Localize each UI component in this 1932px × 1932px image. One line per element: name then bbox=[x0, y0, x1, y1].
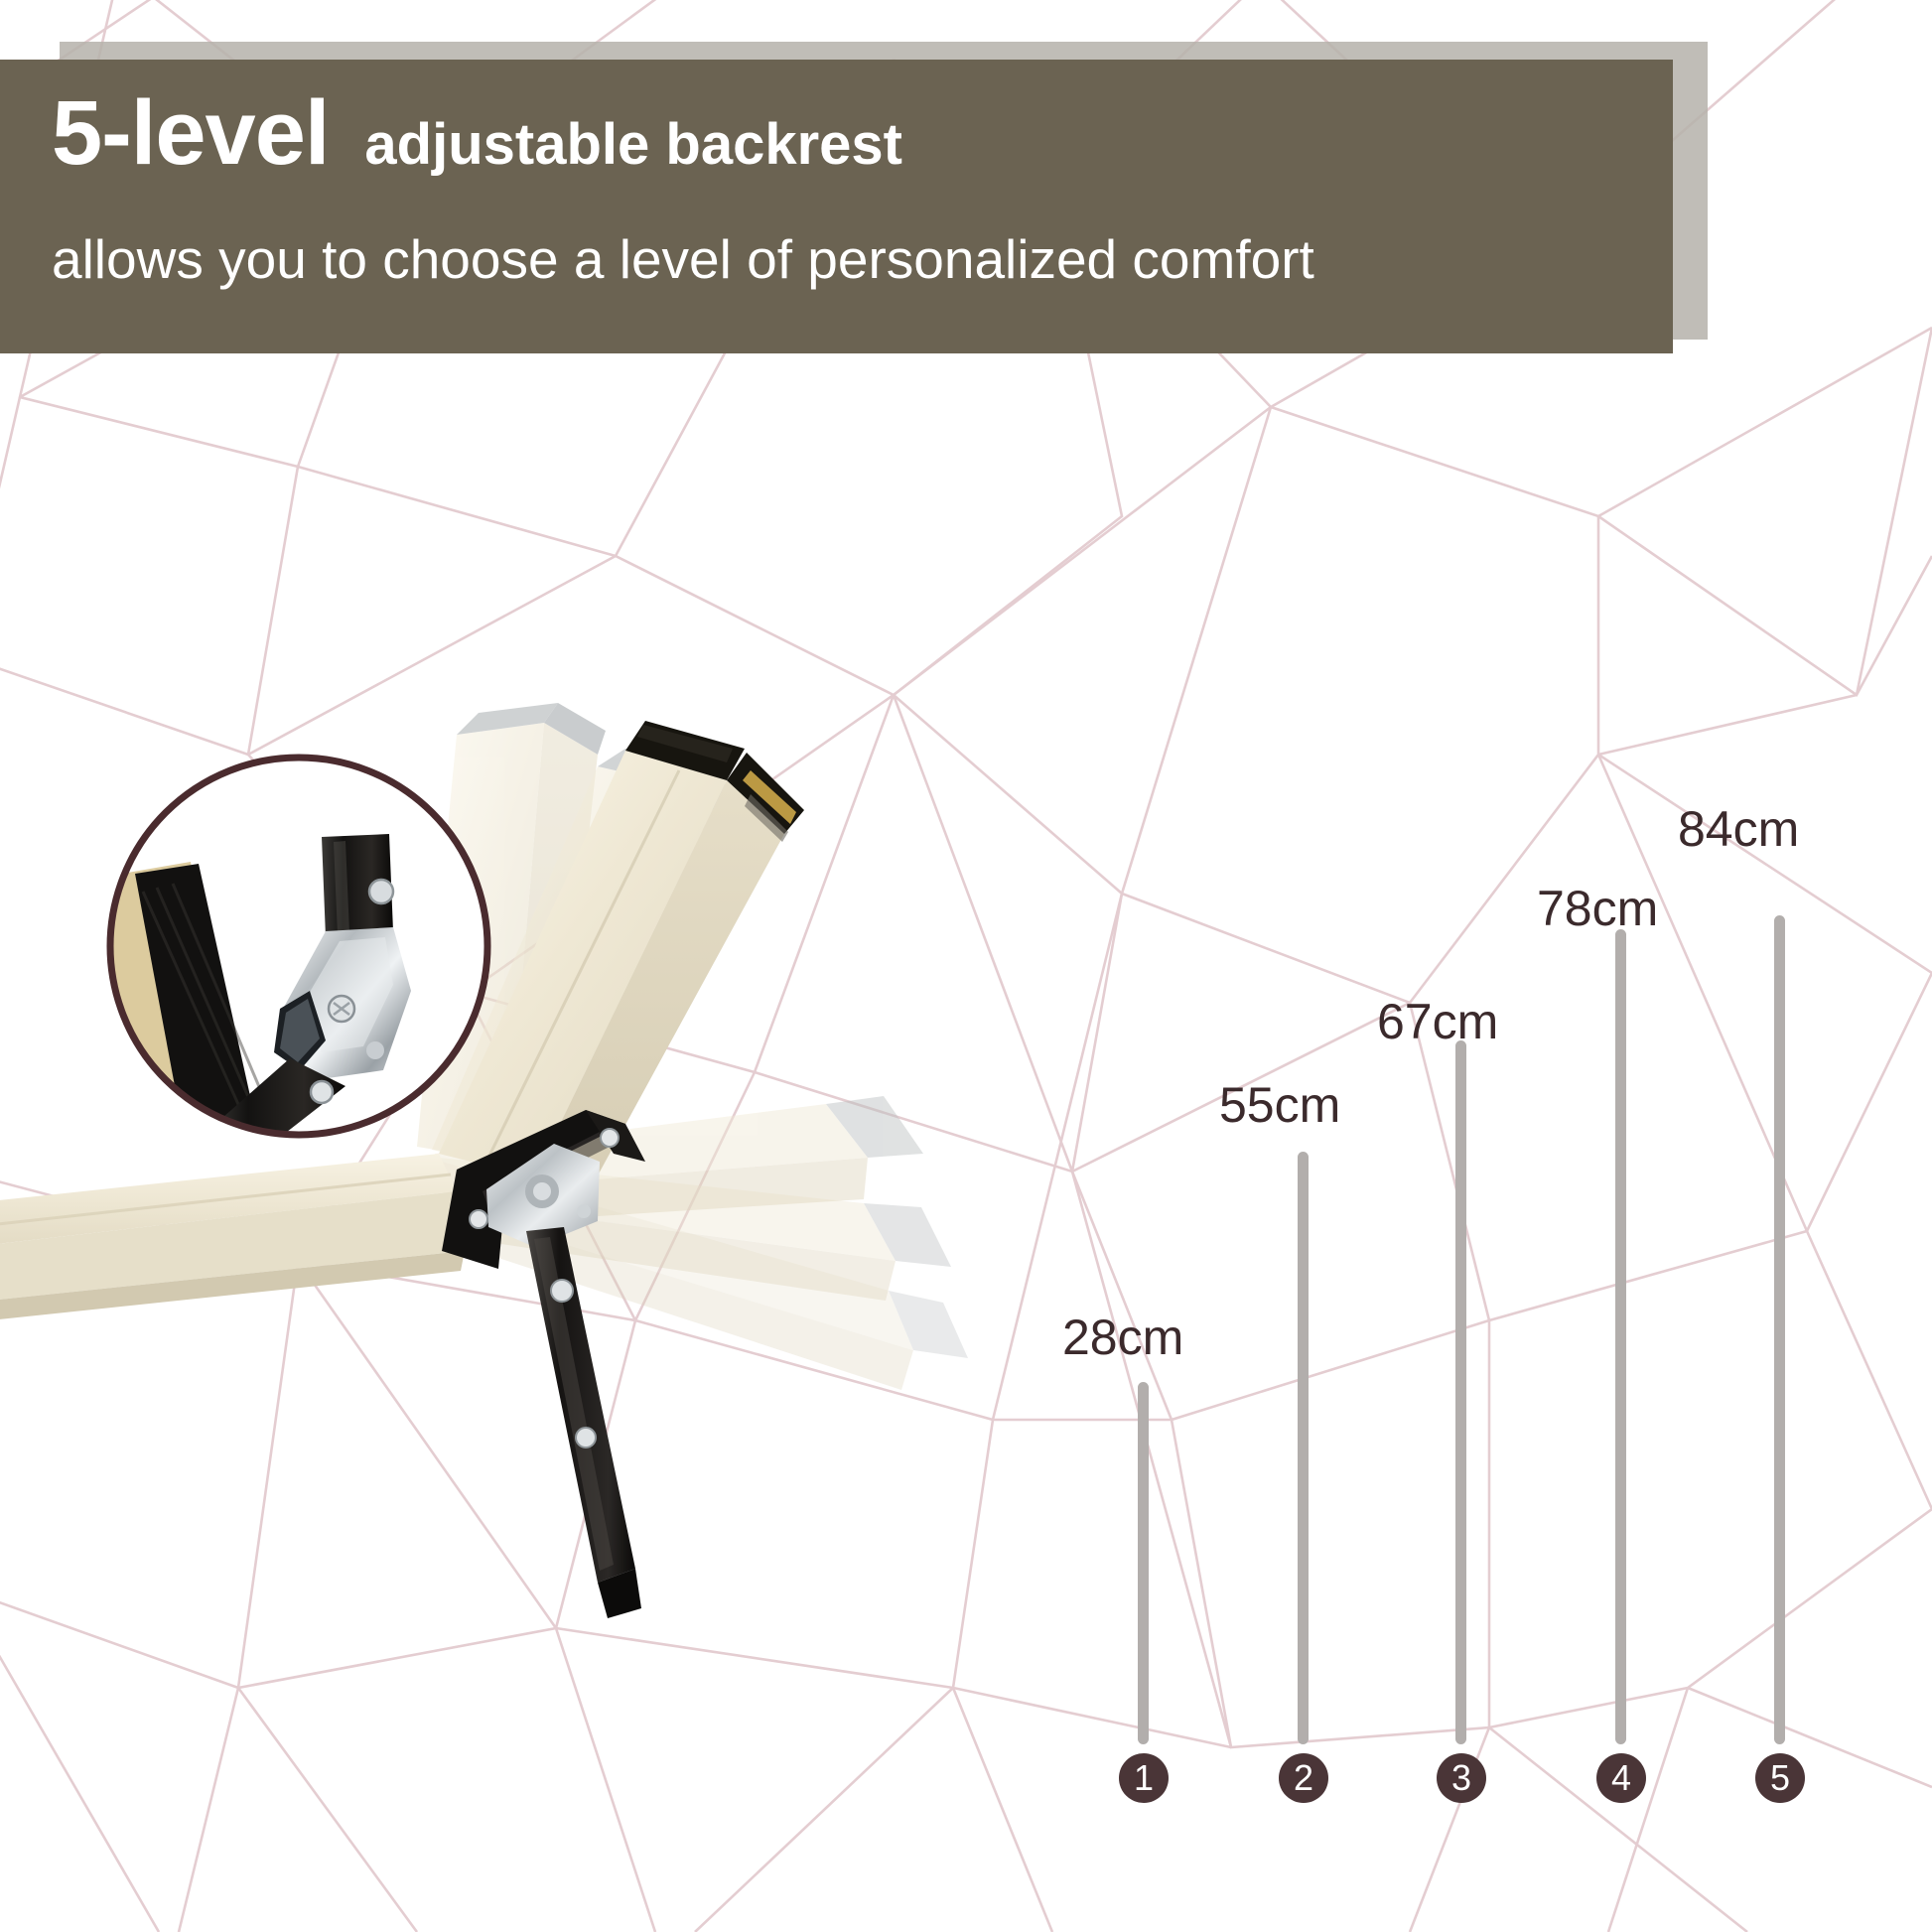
measure-label-2: 55cm bbox=[1219, 1076, 1340, 1134]
step-marker-5[interactable]: 5 bbox=[1755, 1753, 1805, 1803]
measure-label-4: 78cm bbox=[1537, 880, 1658, 937]
header-text-group: 5-level adjustable backrest allows you t… bbox=[52, 87, 1633, 287]
measure-label-5: 84cm bbox=[1678, 800, 1799, 858]
detail-closeup-inset bbox=[95, 743, 502, 1150]
step-marker-1[interactable]: 1 bbox=[1119, 1753, 1169, 1803]
measure-line-4 bbox=[1615, 929, 1626, 1744]
step-marker-3[interactable]: 3 bbox=[1437, 1753, 1486, 1803]
measure-label-3: 67cm bbox=[1377, 993, 1498, 1050]
page-title-main: 5-level bbox=[52, 87, 329, 179]
page-title-sub: adjustable backrest bbox=[364, 116, 902, 174]
step-marker-2[interactable]: 2 bbox=[1279, 1753, 1328, 1803]
measure-line-5 bbox=[1774, 915, 1785, 1744]
header-banner: 5-level adjustable backrest allows you t… bbox=[0, 60, 1673, 353]
measure-line-3 bbox=[1455, 1040, 1466, 1744]
step-marker-4[interactable]: 4 bbox=[1596, 1753, 1646, 1803]
infographic-canvas: 5-level adjustable backrest allows you t… bbox=[0, 0, 1932, 1932]
title-row: 5-level adjustable backrest bbox=[52, 87, 1633, 179]
measure-label-1: 28cm bbox=[1062, 1309, 1183, 1366]
measure-line-2 bbox=[1298, 1152, 1309, 1744]
page-subtitle: allows you to choose a level of personal… bbox=[52, 232, 1633, 287]
measure-line-1 bbox=[1138, 1382, 1149, 1744]
